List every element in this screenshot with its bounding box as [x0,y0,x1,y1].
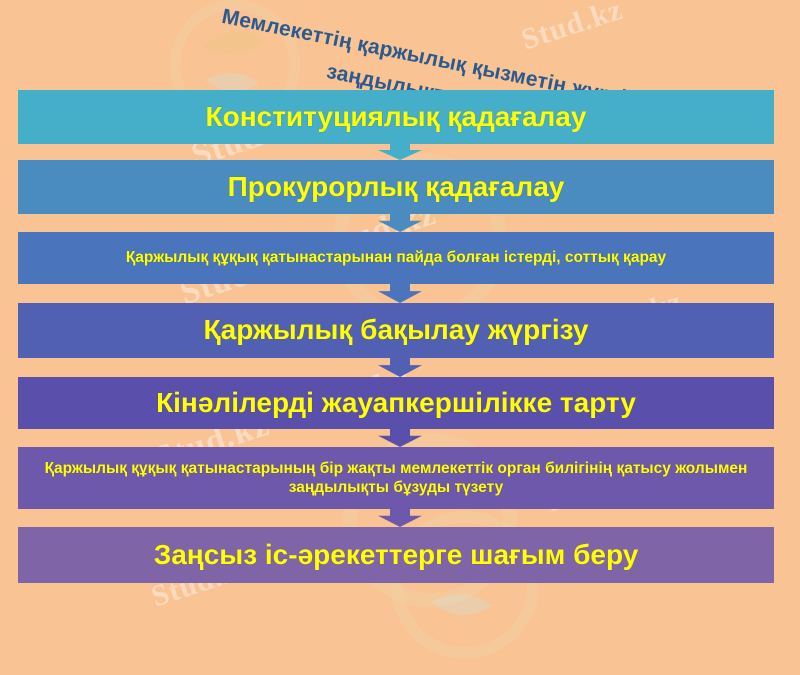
flow-arrow-down-icon-6 [377,509,423,527]
flowchart: Конституциялық қадағалауПрокурорлық қада… [0,0,800,600]
flow-arrow-down-icon-4 [377,358,423,377]
flow-arrow-down-icon-1 [377,144,423,160]
flow-node-3: Қаржылық құқық қатынастарынан пайда болғ… [18,232,774,284]
flow-node-label: Қаржылық құқық қатынастарының бір жақты … [28,459,764,498]
flow-node-label: Заңсыз іс-әрекеттерге шағым беру [154,539,639,571]
flow-node-2: Прокурорлық қадағалау [18,160,774,214]
flow-node-7: Заңсыз іс-әрекеттерге шағым беру [18,527,774,583]
flow-arrow-down-icon-2 [377,214,423,232]
flow-node-label: Кінәлілерді жауапкершілікке тарту [156,387,636,419]
flow-node-label: Қаржылық құқық қатынастарынан пайда болғ… [126,248,666,267]
flow-node-label: Конституциялық қадағалау [206,101,587,133]
flow-node-4: Қаржылық бақылау жүргізу [18,303,774,358]
flow-arrow-down-icon-5 [377,429,423,447]
flow-node-1: Конституциялық қадағалау [18,90,774,144]
flow-node-6: Қаржылық құқық қатынастарының бір жақты … [18,447,774,509]
flow-node-5: Кінәлілерді жауапкершілікке тарту [18,377,774,429]
flow-node-label: Қаржылық бақылау жүргізу [204,314,589,346]
flow-node-label: Прокурорлық қадағалау [228,171,565,203]
flow-arrow-down-icon-3 [377,284,423,303]
